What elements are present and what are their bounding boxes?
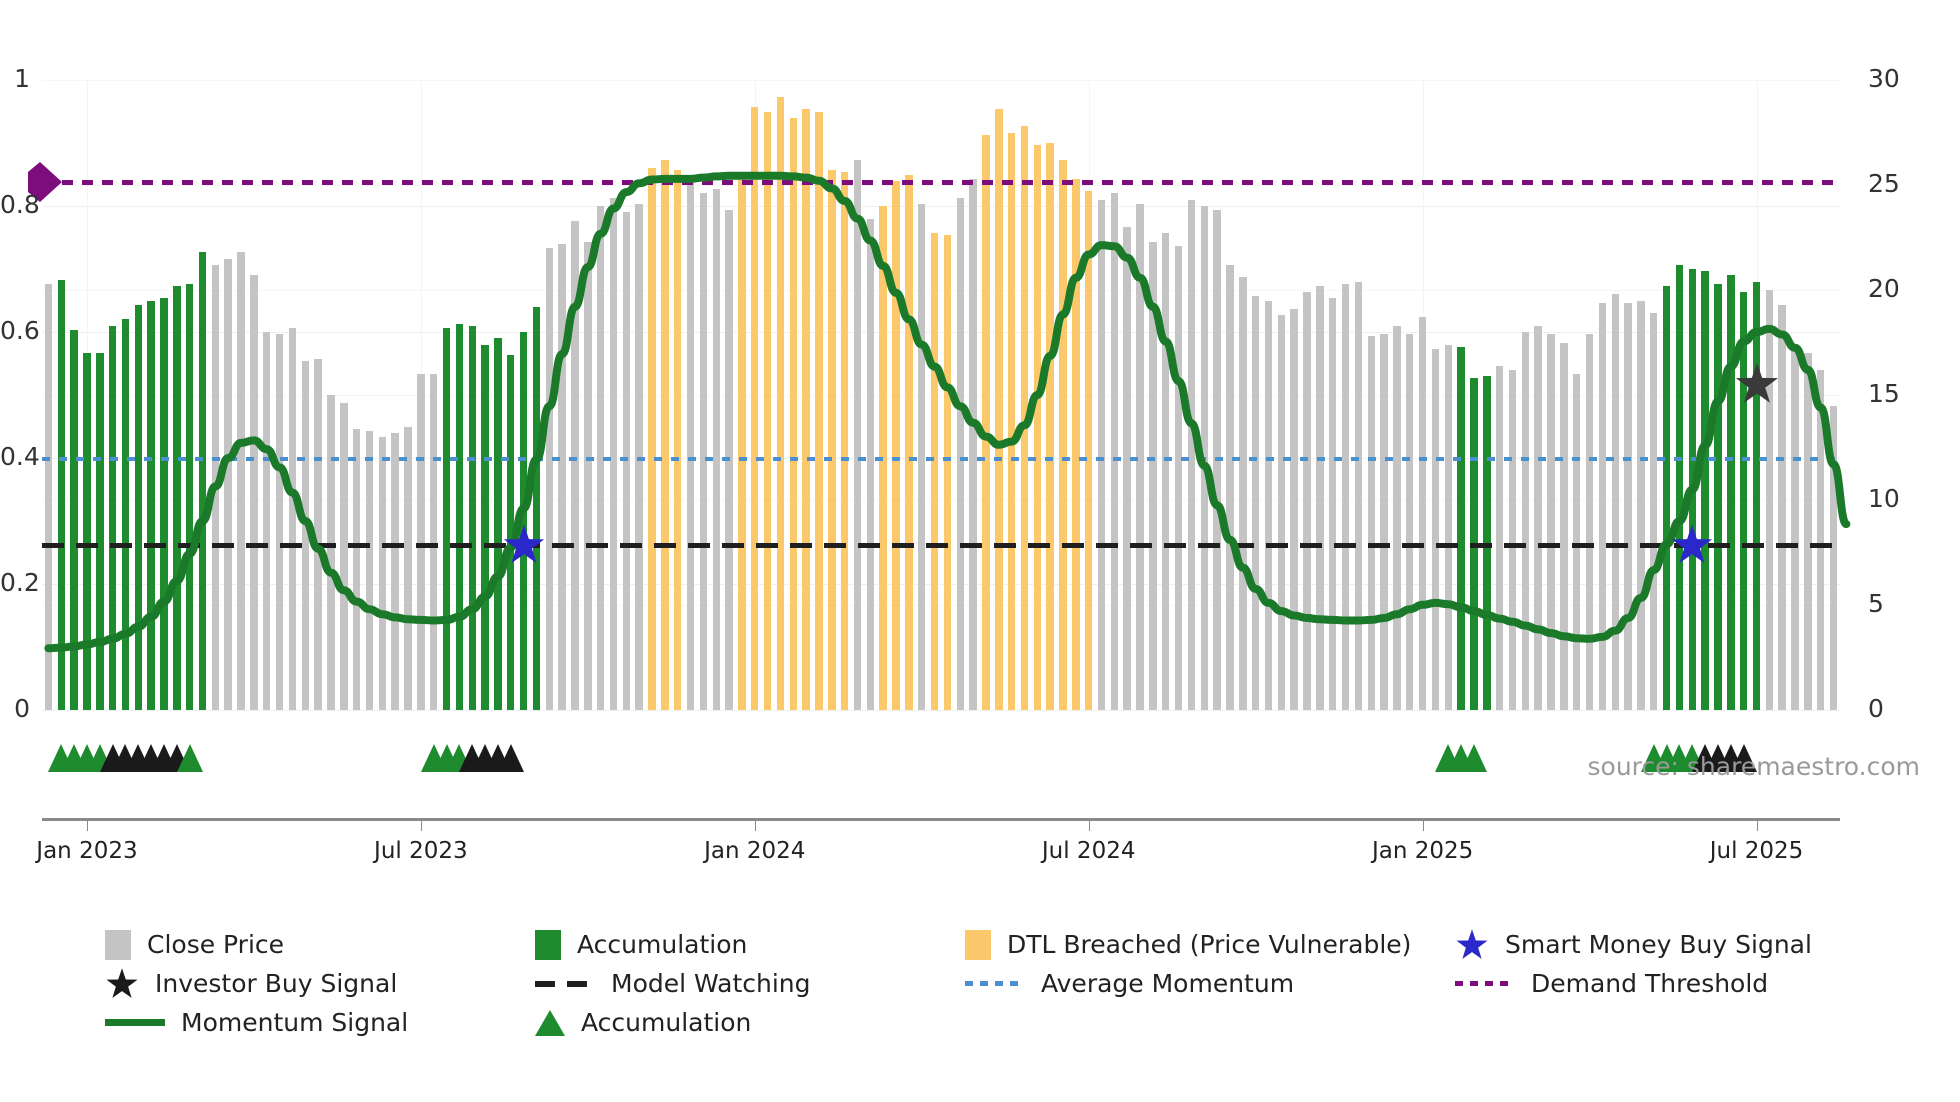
x-axis-tick <box>1423 821 1424 831</box>
y-axis-right-tick-label: 5 <box>1868 589 1908 618</box>
legend-label: Smart Money Buy Signal <box>1505 930 1812 959</box>
legend-label: Accumulation <box>581 1008 751 1037</box>
legend-dotted-line-swatch <box>1455 981 1515 986</box>
marker-wrapper <box>1734 361 1780 407</box>
x-axis-tick-label: Jul 2023 <box>331 838 511 864</box>
legend-dashed-line-swatch <box>535 981 595 987</box>
legend-label: Investor Buy Signal <box>155 969 397 998</box>
x-axis-tick <box>755 821 756 831</box>
legend-dtl-breached[interactable]: DTL Breached (Price Vulnerable) <box>965 930 1455 960</box>
legend-star-icon <box>105 967 139 1001</box>
legend-accumulation-triangle[interactable]: Accumulation <box>535 1008 965 1037</box>
legend-accumulation-bar[interactable]: Accumulation <box>535 930 965 960</box>
legend-triangle-swatch <box>535 1010 565 1036</box>
legend-average-momentum[interactable]: Average Momentum <box>965 969 1455 998</box>
x-axis-tick <box>1757 821 1758 831</box>
y-axis-left-tick-label: 0.2 <box>0 568 30 597</box>
y-axis-left-tick-label: 1 <box>0 64 30 93</box>
legend-label: Average Momentum <box>1041 969 1294 998</box>
y-axis-left-tick-label: 0.4 <box>0 442 30 471</box>
x-axis-line <box>42 818 1840 821</box>
legend-label: Momentum Signal <box>181 1008 408 1037</box>
momentum-signal-curve <box>42 80 1840 710</box>
legend-color-box <box>535 930 561 960</box>
x-axis-tick <box>421 821 422 831</box>
legend-line-swatch <box>105 1019 165 1026</box>
legend-close-price[interactable]: Close Price <box>105 930 535 960</box>
accumulation-triangle-marker <box>1461 744 1487 772</box>
y-axis-left-tick-label: 0.8 <box>0 190 30 219</box>
gridline <box>42 710 1840 711</box>
legend-momentum-signal[interactable]: Momentum Signal <box>105 1008 535 1037</box>
legend-dotted-line-swatch <box>965 981 1025 986</box>
accumulation-triangle-marker <box>177 744 203 772</box>
accumulation-triangle-marker <box>498 744 524 772</box>
smart-money-buy-signal-star-icon <box>502 523 546 567</box>
chart-screenshot: 10.80.60.40.20 302520151050 Jan 2023Jul … <box>0 0 1960 1102</box>
plot-area <box>42 80 1840 710</box>
x-axis-tick-label: Jan 2024 <box>665 838 845 864</box>
investor-buy-signal-star-icon <box>1734 361 1780 407</box>
legend-label: Close Price <box>147 930 284 959</box>
x-axis-tick-label: Jan 2023 <box>0 838 177 864</box>
y-axis-right-tick-label: 15 <box>1868 379 1908 408</box>
legend-color-box <box>105 930 131 960</box>
smart-money-buy-signal-star-icon <box>1670 523 1714 567</box>
legend-model-watching[interactable]: Model Watching <box>535 969 965 998</box>
legend-smart-money-buy-signal[interactable]: Smart Money Buy Signal <box>1455 928 1885 962</box>
x-axis-tick-label: Jul 2025 <box>1667 838 1847 864</box>
marker-wrapper <box>1670 523 1714 567</box>
marker-wrapper <box>502 523 546 567</box>
chart-legend: Close PriceAccumulationDTL Breached (Pri… <box>105 925 1925 1042</box>
x-axis-tick <box>87 821 88 831</box>
legend-investor-buy-signal[interactable]: Investor Buy Signal <box>105 967 535 1001</box>
legend-star-icon <box>1455 928 1489 962</box>
legend-label: Model Watching <box>611 969 811 998</box>
y-axis-right-tick-label: 20 <box>1868 274 1908 303</box>
legend-label: Accumulation <box>577 930 747 959</box>
y-axis-right-tick-label: 0 <box>1868 694 1908 723</box>
source-note: source: sharemaestro.com <box>1588 752 1921 781</box>
legend-color-box <box>965 930 991 960</box>
y-axis-left-tick-label: 0.6 <box>0 316 30 345</box>
legend-demand-threshold[interactable]: Demand Threshold <box>1455 969 1885 998</box>
x-axis-tick <box>1089 821 1090 831</box>
momentum-signal-path <box>48 176 1846 649</box>
x-axis-tick-label: Jan 2025 <box>1333 838 1513 864</box>
y-axis-right-tick-label: 10 <box>1868 484 1908 513</box>
accumulation-triangle-strip <box>42 738 1840 772</box>
y-axis-left-tick-label: 0 <box>0 694 30 723</box>
x-axis-tick-label: Jul 2024 <box>999 838 1179 864</box>
y-axis-right-tick-label: 30 <box>1868 64 1908 93</box>
legend-label: DTL Breached (Price Vulnerable) <box>1007 930 1411 959</box>
legend-label: Demand Threshold <box>1531 969 1768 998</box>
y-axis-right-tick-label: 25 <box>1868 169 1908 198</box>
